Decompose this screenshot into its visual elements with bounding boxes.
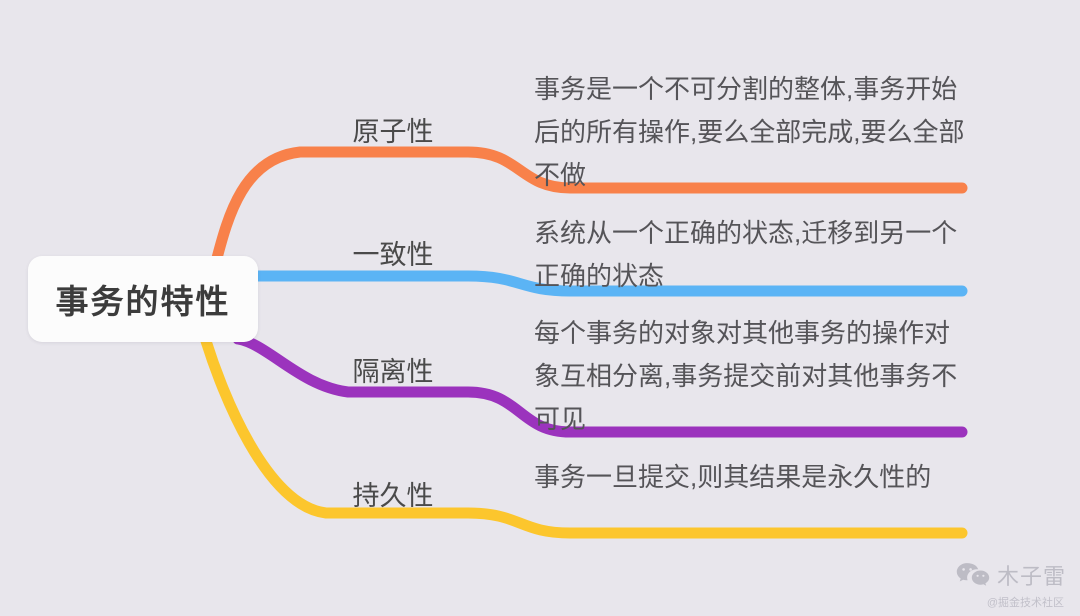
watermark-name: 木子雷 [997,559,1066,591]
branch-description-consistency[interactable]: 系统从一个正确的状态,迁移到另一个正确的状态 [534,212,966,298]
branch-description-isolation[interactable]: 每个事务的对象对其他事务的操作对象互相分离,事务提交前对其他事务不可见 [534,312,966,441]
branch-label-atomicity[interactable]: 原子性 [353,110,434,149]
root-node-label: 事务的特性 [56,275,231,323]
root-node[interactable]: 事务的特性 [28,256,258,342]
watermark: 木子雷 @掘金技术社区 [956,559,1066,610]
watermark-row: 木子雷 [956,559,1066,591]
branch-label-consistency[interactable]: 一致性 [353,233,434,272]
branch-description-durability[interactable]: 事务一旦提交,则其结果是永久性的 [534,456,966,499]
branch-label-durability[interactable]: 持久性 [353,474,434,513]
mindmap-canvas: 事务的特性 原子性 一致性 隔离性 持久性 事务是一个不可分割的整体,事务开始后… [0,0,1080,616]
branch-description-atomicity[interactable]: 事务是一个不可分割的整体,事务开始后的所有操作,要么全部完成,要么全部不做 [534,68,966,197]
watermark-subtitle: @掘金技术社区 [987,594,1064,610]
branch-label-isolation[interactable]: 隔离性 [353,350,434,389]
wechat-icon [956,562,990,588]
